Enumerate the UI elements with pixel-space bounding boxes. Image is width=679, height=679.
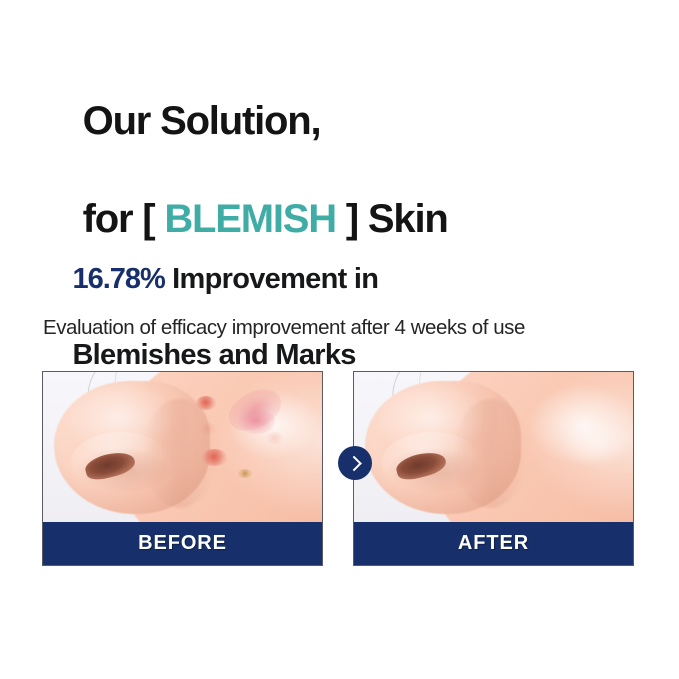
stat-percent: 16.78% bbox=[72, 263, 164, 295]
blemish-mark bbox=[238, 469, 252, 478]
promotional-graphic: Our Solution, for [ BLEMISH ] Skin 16.78… bbox=[0, 0, 679, 679]
nose-contour bbox=[454, 399, 527, 508]
before-photo bbox=[43, 372, 322, 523]
chevron-right-icon bbox=[338, 446, 372, 480]
chevron-glyph bbox=[346, 455, 362, 471]
before-panel: BEFORE bbox=[42, 371, 323, 566]
after-label-bar: AFTER bbox=[354, 522, 633, 565]
skin-sheen bbox=[560, 417, 633, 468]
stat-label-line-2: Blemishes and Marks bbox=[72, 339, 355, 371]
after-label: AFTER bbox=[458, 532, 529, 555]
headline-line-1: Our Solution, bbox=[83, 99, 321, 143]
stat-label-line-1: Improvement in bbox=[165, 263, 379, 295]
before-label: BEFORE bbox=[138, 532, 227, 555]
blemish-mark bbox=[202, 449, 227, 466]
after-photo bbox=[354, 372, 633, 523]
before-after-comparison: BEFORE AFTER bbox=[42, 371, 638, 566]
stat-caption: Evaluation of efficacy improvement after… bbox=[43, 314, 663, 342]
before-label-bar: BEFORE bbox=[43, 522, 322, 565]
blemish-mark bbox=[196, 396, 216, 410]
blemish-mark bbox=[238, 408, 274, 434]
after-panel: AFTER bbox=[353, 371, 634, 566]
blemish-mark bbox=[199, 423, 216, 434]
